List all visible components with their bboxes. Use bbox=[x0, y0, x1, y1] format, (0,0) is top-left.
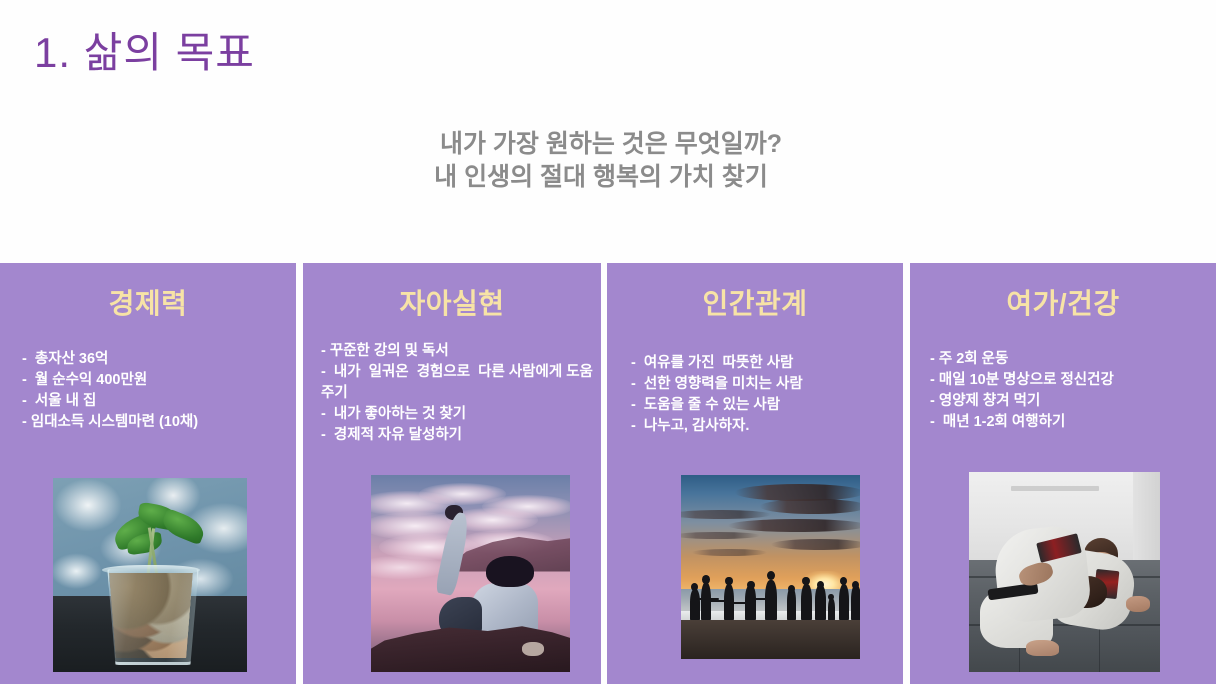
list-item: - 선한 영향력을 미치는 사람 bbox=[631, 374, 895, 395]
list-item: - 매년 1-2회 여행하기 bbox=[930, 412, 1208, 433]
subtitle-block: 내가 가장 원하는 것은 무엇일까? 내 인생의 절대 행복의 가치 찾기 bbox=[0, 128, 1216, 194]
card-bullet-list: - 주 2회 운동 - 매일 10분 명상으로 정신건강 - 영양제 챵겨 먹기… bbox=[930, 349, 1208, 433]
card-heading: 경제력 bbox=[0, 282, 296, 322]
goal-cards-row: 경제력 - 총자산 36억 - 월 순수익 400만원 - 서울 내 집 - 임… bbox=[0, 263, 1216, 684]
list-item: - 여유를 가진 따뜻한 사람 bbox=[631, 353, 895, 374]
list-item: - 영양제 챵겨 먹기 bbox=[930, 391, 1208, 412]
slide-canvas: 1. 삶의 목표 내가 가장 원하는 것은 무엇일까? 내 인생의 절대 행복의… bbox=[0, 0, 1216, 684]
list-item: - 꾸준한 강의 및 독서 bbox=[321, 341, 593, 362]
list-item: - 서울 내 집 bbox=[22, 391, 288, 412]
list-item: - 내가 좋아하는 것 찾기 bbox=[321, 404, 593, 425]
list-item: - 매일 10분 명상으로 정신건강 bbox=[930, 370, 1208, 391]
card-bullet-list: - 꾸준한 강의 및 독서 - 내가 일궈온 경험으로 다른 사람에게 도움주기… bbox=[321, 341, 593, 446]
card-heading: 자아실현 bbox=[303, 282, 601, 322]
list-item: - 도움을 줄 수 있는 사람 bbox=[631, 395, 895, 416]
list-item: - 총자산 36억 bbox=[22, 349, 288, 370]
list-item: - 임대소득 시스템마련 (10채) bbox=[22, 412, 288, 433]
card-heading: 인간관계 bbox=[607, 282, 903, 322]
goal-card-economy[interactable]: 경제력 - 총자산 36억 - 월 순수익 400만원 - 서울 내 집 - 임… bbox=[0, 263, 296, 684]
person-raising-fist-above-clouds-photo bbox=[371, 475, 570, 672]
list-item: - 내가 일궈온 경험으로 다른 사람에게 도움주기 bbox=[321, 362, 593, 404]
subtitle-line-2: 내 인생의 절대 행복의 가치 찾기 bbox=[0, 161, 1216, 194]
card-heading: 여가/건강 bbox=[910, 282, 1216, 322]
list-item: - 월 순수익 400만원 bbox=[22, 370, 288, 391]
list-item: - 나누고, 감사하자. bbox=[631, 416, 895, 437]
goal-card-relationships[interactable]: 인간관계 - 여유를 가진 따뜻한 사람 - 선한 영향력을 미치는 사람 - … bbox=[607, 263, 903, 684]
card-bullet-list: - 총자산 36억 - 월 순수익 400만원 - 서울 내 집 - 임대소득 … bbox=[22, 349, 288, 433]
goal-card-leisure-health[interactable]: 여가/건강 - 주 2회 운동 - 매일 10분 명상으로 정신건강 - 영양제… bbox=[910, 263, 1216, 684]
people-holding-hands-beach-sunset-photo bbox=[681, 475, 860, 659]
list-item: - 주 2회 운동 bbox=[930, 349, 1208, 370]
page-title: 1. 삶의 목표 bbox=[34, 19, 255, 80]
coins-in-jar-with-sprout-photo bbox=[53, 478, 247, 672]
subtitle-line-1: 내가 가장 원하는 것은 무엇일까? bbox=[6, 128, 1216, 161]
list-item: - 경제적 자유 달성하기 bbox=[321, 425, 593, 446]
card-bullet-list: - 여유를 가진 따뜻한 사람 - 선한 영향력을 미치는 사람 - 도움을 줄… bbox=[631, 353, 895, 437]
jiu-jitsu-grappling-on-mat-photo bbox=[969, 472, 1160, 672]
goal-card-self-realization[interactable]: 자아실현 - 꾸준한 강의 및 독서 - 내가 일궈온 경험으로 다른 사람에게… bbox=[303, 263, 601, 684]
